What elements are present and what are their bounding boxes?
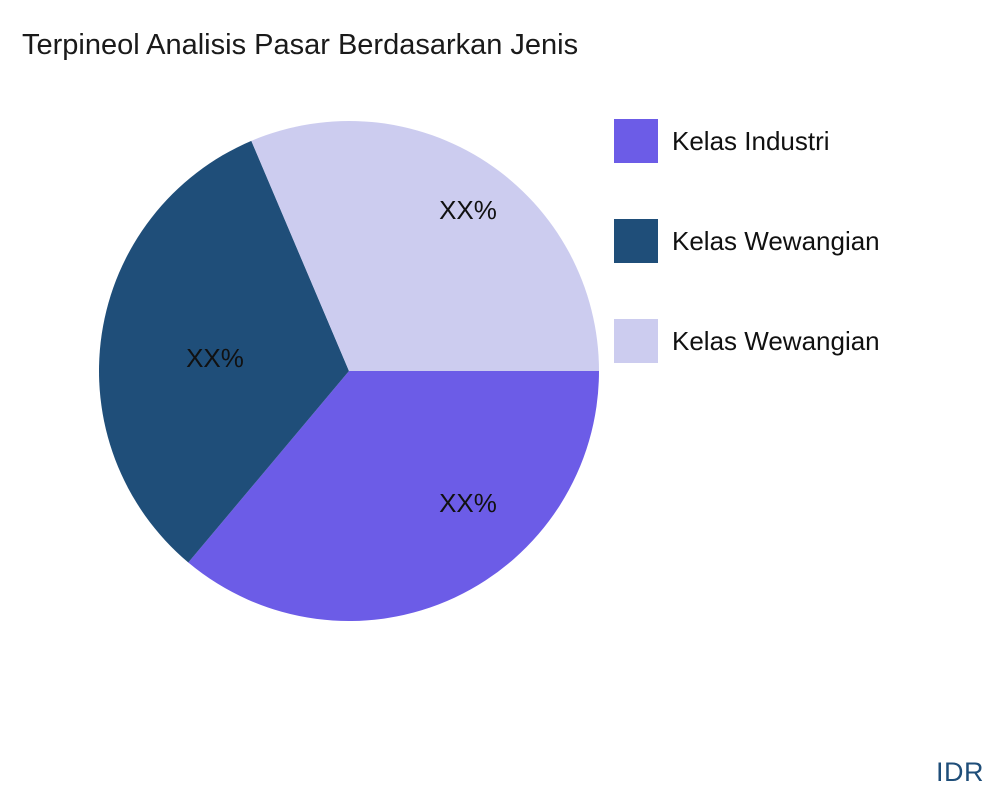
pie-chart: XX%XX%XX% (99, 121, 599, 621)
pie-chart-svg: XX%XX%XX% (99, 121, 599, 621)
pie-slice-label-2: XX% (439, 195, 497, 225)
legend-swatch-icon-0 (614, 119, 658, 163)
legend-item-1[interactable]: Kelas Wewangian (614, 219, 984, 263)
legend-swatch-icon-2 (614, 319, 658, 363)
legend-label-2: Kelas Wewangian (672, 326, 880, 356)
legend-label-1: Kelas Wewangian (672, 226, 880, 256)
legend-swatch-icon-1 (614, 219, 658, 263)
legend-item-2[interactable]: Kelas Wewangian (614, 319, 984, 363)
legend-item-0[interactable]: Kelas Industri (614, 119, 984, 163)
legend-label-0: Kelas Industri (672, 126, 830, 156)
pie-slice-label-0: XX% (439, 488, 497, 518)
currency-label: IDR (936, 756, 984, 788)
chart-canvas: Terpineol Analisis Pasar Berdasarkan Jen… (0, 0, 1000, 800)
pie-slice-label-1: XX% (186, 343, 244, 373)
pie-slices-group (99, 121, 599, 621)
chart-legend: Kelas Industri Kelas Wewangian Kelas Wew… (614, 119, 984, 419)
page-title: Terpineol Analisis Pasar Berdasarkan Jen… (22, 27, 578, 63)
